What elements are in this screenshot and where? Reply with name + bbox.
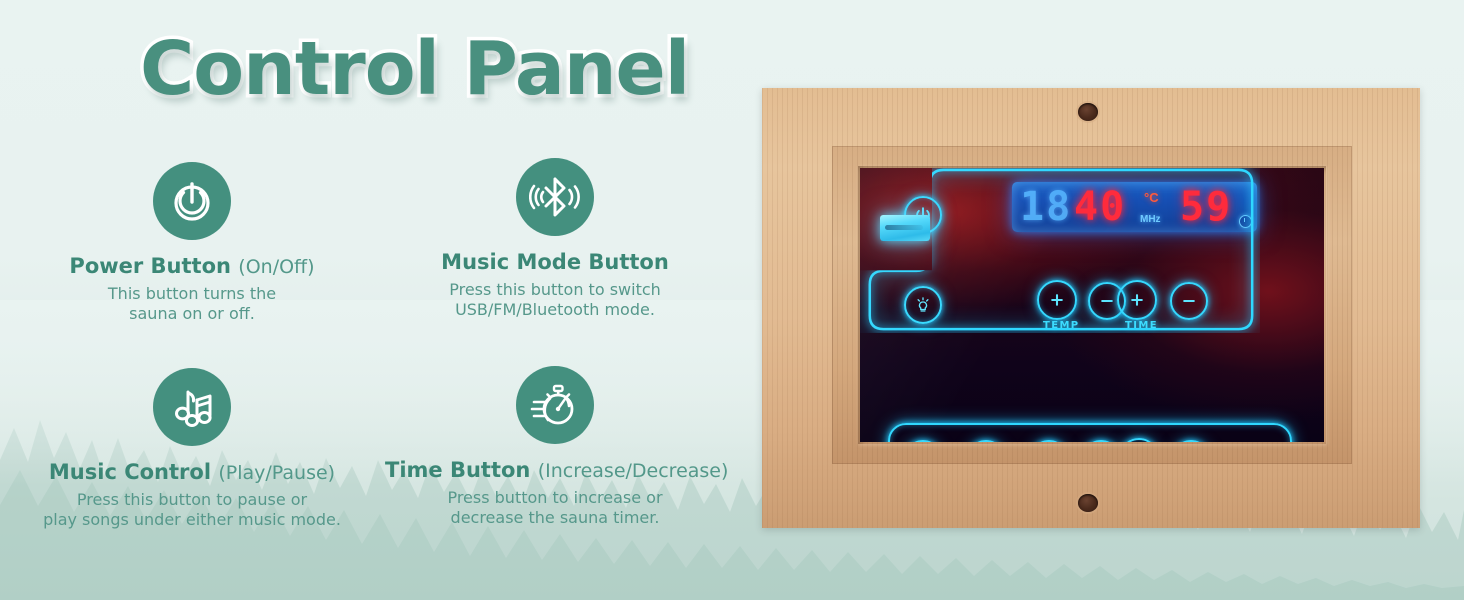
temp-increase-button[interactable] (1037, 280, 1077, 320)
minus-icon (1099, 293, 1115, 309)
feature-title-main: Music Mode Button (441, 250, 669, 274)
feature-title: Time Button (Increase/Decrease) (385, 458, 725, 482)
time-increase-button[interactable] (1117, 280, 1157, 320)
feature-description: This button turns the sauna on or off. (42, 284, 342, 325)
feature-title-sub: (Increase/Decrease) (538, 460, 729, 482)
feature-title: Music Mode Button (405, 250, 705, 274)
feature-music-control: Music Control (Play/Pause) Press this bu… (22, 368, 362, 531)
touch-screen: 18 40 °C MHz 59 (860, 168, 1324, 442)
plus-icon (1129, 292, 1145, 308)
plus-icon (1049, 292, 1065, 308)
minus-icon (1181, 293, 1197, 309)
stopwatch-icon-badge (516, 366, 594, 444)
music-mode-indicator (880, 215, 930, 241)
feature-music-mode-button: Music Mode Button Press this button to s… (405, 158, 705, 321)
feature-description: Press button to increase or decrease the… (385, 488, 725, 529)
feature-title: Power Button (On/Off) (42, 254, 342, 278)
feature-title-main: Time Button (385, 458, 530, 482)
panel-light-button[interactable] (904, 286, 942, 324)
control-panel-photo: 18 40 °C MHz 59 (762, 88, 1420, 528)
infographic-canvas: Control Panel Power Button (On/Off) This… (0, 0, 1464, 600)
stopwatch-icon (528, 380, 582, 430)
time-decrease-button[interactable] (1170, 282, 1208, 320)
screw-top (1078, 103, 1098, 121)
feature-title-sub: (On/Off) (238, 256, 314, 278)
feature-title: Music Control (Play/Pause) (22, 460, 362, 484)
feature-title-main: Music Control (49, 460, 211, 484)
page-title: Control Panel (140, 26, 689, 112)
bluetooth-icon (529, 172, 581, 222)
feature-description: Press this button to pause or play songs… (22, 490, 362, 531)
power-icon-badge (153, 162, 231, 240)
bluetooth-icon-badge (516, 158, 594, 236)
music-notes-icon-badge (153, 368, 231, 446)
neon-outline-lower (888, 423, 1292, 442)
feature-title-sub: (Play/Pause) (218, 462, 335, 484)
feature-description: Press this button to switch USB/FM/Bluet… (405, 280, 705, 321)
temp-label: TEMP (1043, 320, 1080, 331)
screw-bottom (1078, 494, 1098, 512)
feature-title-main: Power Button (69, 254, 231, 278)
feature-time-button: Time Button (Increase/Decrease) Press bu… (385, 366, 725, 529)
music-notes-icon (167, 382, 217, 432)
power-icon (167, 176, 217, 226)
light-bulb-icon (914, 296, 932, 314)
time-label: TIME (1125, 320, 1158, 331)
feature-power-button: Power Button (On/Off) This button turns … (42, 162, 342, 325)
